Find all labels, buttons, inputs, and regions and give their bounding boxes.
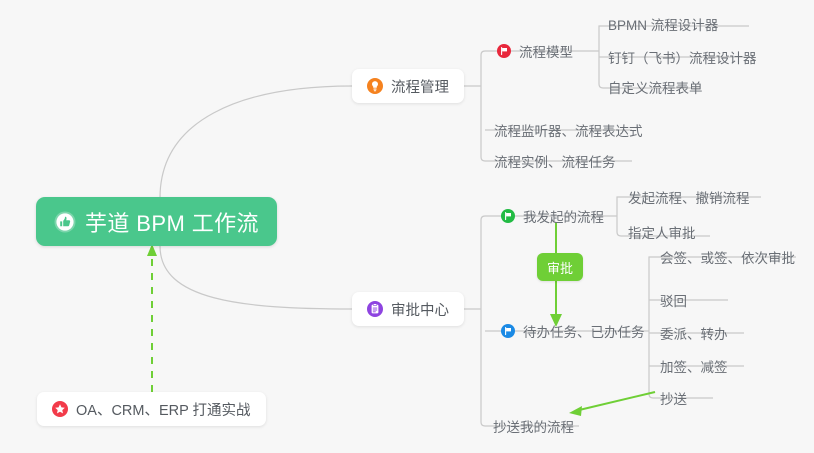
clipboard-icon bbox=[367, 301, 383, 317]
label-process-model: 流程模型 bbox=[519, 41, 573, 61]
label-cc: 抄送 bbox=[660, 388, 687, 408]
node-add-remove-sign[interactable]: 加签、减签 bbox=[654, 353, 734, 379]
node-start-cancel-process[interactable]: 发起流程、撤销流程 bbox=[622, 184, 756, 210]
link-root-to-approval-center bbox=[160, 246, 352, 309]
label-delegate-transfer: 委派、转办 bbox=[660, 323, 728, 343]
node-bpmn-designer[interactable]: BPMN 流程设计器 bbox=[602, 11, 724, 37]
node-process-listener[interactable]: 流程监听器、流程表达式 bbox=[488, 117, 649, 143]
flag-blue-icon bbox=[501, 324, 515, 338]
node-process-model[interactable]: 流程模型 bbox=[491, 38, 579, 64]
node-custom-process-form[interactable]: 自定义流程表单 bbox=[602, 74, 709, 100]
label-start-cancel-process: 发起流程、撤销流程 bbox=[628, 187, 750, 207]
thumbs-up-icon bbox=[54, 211, 76, 233]
link-pm-bracket-top bbox=[481, 51, 485, 60]
label-todo-done-tasks: 待办任务、已办任务 bbox=[523, 321, 645, 341]
label-custom-process-form: 自定义流程表单 bbox=[608, 77, 703, 97]
node-countersign[interactable]: 会签、或签、依次审批 bbox=[654, 244, 801, 270]
label-assignee-approval: 指定人审批 bbox=[628, 222, 696, 242]
lightbulb-icon bbox=[367, 78, 383, 94]
label-countersign: 会签、或签、依次审批 bbox=[660, 247, 795, 267]
branch-process-management[interactable]: 流程管理 bbox=[352, 69, 464, 103]
node-my-initiated[interactable]: 我发起的流程 bbox=[495, 203, 610, 229]
label-add-remove-sign: 加签、减签 bbox=[660, 356, 728, 376]
annotation-integration-label: OA、CRM、ERP 打通实战 bbox=[76, 399, 251, 420]
node-reject[interactable]: 驳回 bbox=[654, 287, 693, 313]
label-reject: 驳回 bbox=[660, 290, 687, 310]
link-mine-bracket bbox=[617, 197, 621, 236]
root-label: 芋道 BPM 工作流 bbox=[85, 206, 259, 238]
branch-label-process-management: 流程管理 bbox=[391, 76, 449, 97]
node-cc[interactable]: 抄送 bbox=[654, 385, 693, 411]
label-my-initiated: 我发起的流程 bbox=[523, 206, 604, 226]
label-cc-to-me: 抄送我的流程 bbox=[493, 416, 574, 436]
link-pm-bracket-bottom bbox=[481, 152, 485, 161]
link-ac-bracket-bottom bbox=[481, 418, 485, 426]
branch-label-approval-center: 审批中心 bbox=[391, 299, 449, 320]
branch-approval-center[interactable]: 审批中心 bbox=[352, 292, 464, 326]
star-icon bbox=[52, 401, 68, 417]
node-delegate-transfer[interactable]: 委派、转办 bbox=[654, 320, 734, 346]
label-process-listener: 流程监听器、流程表达式 bbox=[494, 120, 643, 140]
link-root-to-process-management bbox=[160, 86, 352, 198]
root-node[interactable]: 芋道 BPM 工作流 bbox=[36, 197, 277, 246]
label-bpmn-designer: BPMN 流程设计器 bbox=[608, 14, 718, 34]
node-cc-to-me[interactable]: 抄送我的流程 bbox=[487, 413, 580, 439]
label-dingtalk-feishu-designer: 钉钉（飞书）流程设计器 bbox=[608, 47, 757, 67]
node-process-instance[interactable]: 流程实例、流程任务 bbox=[488, 148, 622, 174]
link-ac-bracket-top bbox=[481, 216, 485, 225]
node-dingtalk-feishu-designer[interactable]: 钉钉（飞书）流程设计器 bbox=[602, 44, 763, 70]
mindmap-canvas: 芋道 BPM 工作流 流程管理 流程模型 BPMN 流程设计器 钉钉（飞书 bbox=[0, 0, 814, 453]
arrow-cc-to-ccmine bbox=[575, 392, 655, 411]
flag-red-icon bbox=[497, 44, 511, 58]
node-assignee-approval[interactable]: 指定人审批 bbox=[622, 219, 702, 245]
flag-green-icon bbox=[501, 209, 515, 223]
annotation-approval-badge[interactable]: 审批 bbox=[537, 253, 583, 281]
annotation-integration-note[interactable]: OA、CRM、ERP 打通实战 bbox=[37, 392, 266, 426]
annotation-approval-label: 审批 bbox=[547, 258, 573, 277]
label-process-instance: 流程实例、流程任务 bbox=[494, 151, 616, 171]
node-todo-done-tasks[interactable]: 待办任务、已办任务 bbox=[495, 318, 651, 344]
